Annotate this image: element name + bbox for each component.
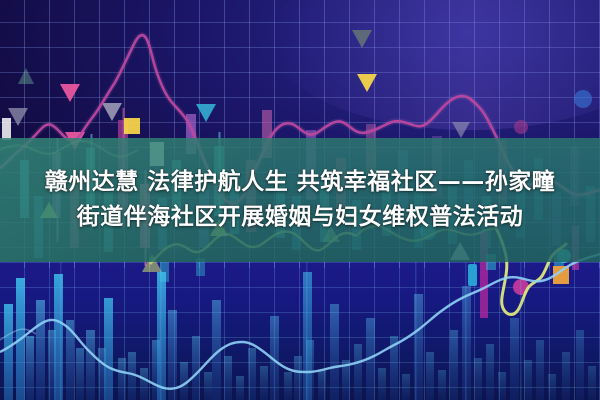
triangle-down-marker — [60, 84, 80, 102]
headline-line-1: 赣州达慧 法律护航人生 共筑幸福社区——孙家疃 — [45, 168, 556, 197]
triangle-down-marker — [102, 103, 122, 121]
triangle-up-marker — [18, 68, 34, 84]
circle-marker — [514, 120, 528, 134]
glow-blob — [270, 0, 600, 130]
headline-line-2: 街道伴海社区开展婚姻与妇女维权普法活动 — [77, 203, 524, 232]
square-marker — [124, 118, 140, 134]
triangle-down-marker — [196, 104, 216, 122]
triangle-down-marker — [452, 122, 470, 138]
circle-marker — [574, 90, 592, 108]
headline-block: 赣州达慧 法律护航人生 共筑幸福社区——孙家疃 街道伴海社区开展婚姻与妇女维权普… — [0, 138, 600, 262]
square-marker — [468, 264, 477, 286]
volume-bar-group — [4, 272, 596, 400]
chart-background-banner: 赣州达慧 法律护航人生 共筑幸福社区——孙家疃 街道伴海社区开展婚姻与妇女维权普… — [0, 0, 600, 400]
